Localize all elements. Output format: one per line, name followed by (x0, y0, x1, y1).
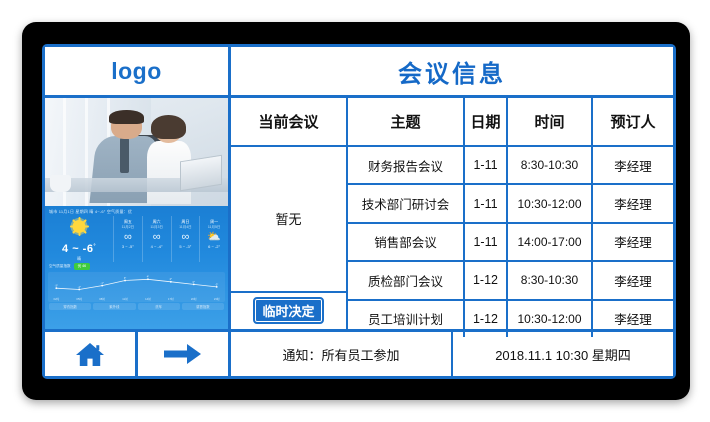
meeting-rows: 财务报告会议 1-11 8:30-10:30 李经理 技术部门研讨会 1-11 … (348, 147, 673, 329)
cell-date: 1-11 (465, 224, 508, 260)
temporary-decision-cell[interactable]: 临时决定 (231, 293, 346, 329)
svg-text:05时: 05时 (76, 297, 82, 301)
cell-date: 1-11 (465, 147, 508, 183)
weather-today: 4 ~ -6° 晴 (45, 216, 113, 262)
meeting-table: 当前会议 主题 日期 时间 预订人 暂无 临时决定 (231, 98, 673, 329)
weather-today-desc: 晴 (45, 256, 113, 262)
cell-subject: 技术部门研讨会 (348, 185, 465, 221)
display-device-bezel: logo 会议信息 (22, 22, 690, 400)
forecast-day-temp: 6 ~ -2° (200, 244, 228, 249)
current-meeting-value: 暂无 (231, 147, 346, 293)
index-tag: 紫外线 (93, 303, 135, 310)
forecast-day: 周日 11月4日 ∞ 5 ~ -3° (171, 216, 200, 262)
forecast-day-temp: 3 ~ -5° (114, 244, 142, 249)
svg-text:2°: 2° (170, 278, 172, 281)
svg-text:-3°: -3° (55, 285, 58, 288)
svg-text:-1°: -1° (101, 282, 104, 285)
cell-time: 8:30-10:30 (508, 262, 593, 298)
cell-subject: 销售部会议 (348, 224, 465, 260)
weather-index-tags: 穿衣指数 紫外线 洗车 感冒指数 (45, 302, 228, 310)
weather-today-temp: 4 ~ -6 (62, 243, 93, 255)
svg-text:14时: 14时 (145, 297, 151, 301)
forecast-day: 周五 11月2日 ∞ 3 ~ -5° (113, 216, 142, 262)
svg-text:-2°: -2° (215, 283, 218, 286)
footer-bar: 通知：所有员工参加 2018.11.1 10:30 星期四 (45, 329, 673, 376)
cell-time: 8:30-10:30 (508, 147, 593, 183)
weather-widget[interactable]: 城市 11月1日 星期四 晴 4~-6° 空气质量：优 4 ~ -6° 晴 (45, 206, 228, 329)
svg-text:3°: 3° (124, 277, 126, 280)
index-tag: 洗车 (138, 303, 180, 310)
cell-time: 10:30-12:00 (508, 185, 593, 221)
weather-location: 城市 11月1日 星期四 晴 4~-6° 空气质量：优 (45, 206, 228, 216)
table-row[interactable]: 销售部会议 1-11 14:00-17:00 李经理 (348, 224, 673, 262)
column-header-date: 日期 (465, 98, 508, 145)
column-header-current: 当前会议 (231, 98, 348, 145)
table-row[interactable]: 财务报告会议 1-11 8:30-10:30 李经理 (348, 147, 673, 185)
cloud-icon: ∞ (172, 232, 200, 243)
air-quality-badge: 优 46 (74, 263, 91, 270)
cell-date: 1-11 (465, 185, 508, 221)
page-title: 会议信息 (398, 54, 506, 89)
notice-text: 通知：所有员工参加 (231, 332, 453, 376)
forecast-day: 周一 11月5日 ⛅ 6 ~ -2° (199, 216, 228, 262)
weather-forecast-list: 周五 11月2日 ∞ 3 ~ -5° 周六 11月3日 ∞ 4 ~ -4° (113, 216, 228, 262)
column-header-subject: 主题 (348, 98, 465, 145)
media-column: 城市 11月1日 星期四 晴 4~-6° 空气质量：优 4 ~ -6° 晴 (45, 98, 231, 329)
forecast-day-date: 11月4日 (172, 225, 200, 230)
index-tag: 感冒指数 (182, 303, 224, 310)
cell-booker: 李经理 (593, 147, 673, 183)
svg-text:0°: 0° (193, 281, 195, 284)
logo-text: logo (111, 58, 162, 85)
home-button[interactable] (45, 332, 138, 376)
next-page-button[interactable] (138, 332, 231, 376)
forecast-day-date: 11月3日 (143, 225, 171, 230)
svg-text:08时: 08时 (99, 297, 105, 301)
table-row[interactable]: 质检部门会议 1-12 8:30-10:30 李经理 (348, 262, 673, 300)
sun-cloud-icon: ⛅ (200, 232, 228, 243)
svg-text:23时: 23时 (214, 297, 220, 301)
temporary-decision-button[interactable]: 临时决定 (253, 297, 323, 324)
svg-text:11时: 11时 (122, 297, 128, 301)
forecast-day-date: 11月2日 (114, 225, 142, 230)
cell-subject: 质检部门会议 (348, 262, 465, 298)
home-icon (75, 341, 105, 368)
arrow-right-icon (164, 343, 202, 365)
air-quality-label: 空气质量指数 (49, 264, 71, 269)
cell-booker: 李经理 (593, 262, 673, 298)
forecast-day-date: 11月5日 (200, 225, 228, 230)
current-meeting-column: 暂无 临时决定 (231, 147, 348, 329)
cloud-icon: ∞ (143, 232, 171, 243)
svg-text:20时: 20时 (191, 297, 197, 301)
forecast-day: 周六 11月3日 ∞ 4 ~ -4° (142, 216, 171, 262)
svg-text:02时: 02时 (53, 297, 59, 301)
cell-time: 14:00-17:00 (508, 224, 593, 260)
cell-booker: 李经理 (593, 224, 673, 260)
index-tag: 穿衣指数 (49, 303, 91, 310)
cell-date: 1-12 (465, 262, 508, 298)
datetime-text: 2018.11.1 10:30 星期四 (453, 332, 673, 376)
column-header-time: 时间 (508, 98, 593, 145)
temperature-trend-chart: 02时-3°05时-4°08时-1°11时3°14时4°17时2°20时0°23… (48, 272, 225, 302)
weather-degree-unit: ° (93, 243, 96, 249)
forecast-day-temp: 4 ~ -4° (143, 244, 171, 249)
cell-booker: 李经理 (593, 185, 673, 221)
page-title-cell: 会议信息 (231, 47, 673, 98)
main-content: 城市 11月1日 星期四 晴 4~-6° 空气质量：优 4 ~ -6° 晴 (45, 98, 673, 329)
logo-cell[interactable]: logo (45, 47, 231, 98)
column-header-booker: 预订人 (593, 98, 673, 145)
svg-text:-4°: -4° (78, 286, 81, 289)
svg-text:17时: 17时 (168, 297, 174, 301)
cloud-icon: ∞ (114, 232, 142, 243)
cell-subject: 财务报告会议 (348, 147, 465, 183)
meeting-room-screen: logo 会议信息 (42, 44, 676, 379)
header-bar: logo 会议信息 (45, 47, 673, 98)
sun-icon (73, 220, 86, 233)
svg-text:4°: 4° (147, 276, 149, 279)
forecast-day-temp: 5 ~ -3° (172, 244, 200, 249)
air-quality-row: 空气质量指数 优 46 (45, 262, 228, 271)
table-row[interactable]: 技术部门研讨会 1-11 10:30-12:00 李经理 (348, 185, 673, 223)
office-photo (45, 98, 228, 206)
table-header-row: 当前会议 主题 日期 时间 预订人 (231, 98, 673, 147)
